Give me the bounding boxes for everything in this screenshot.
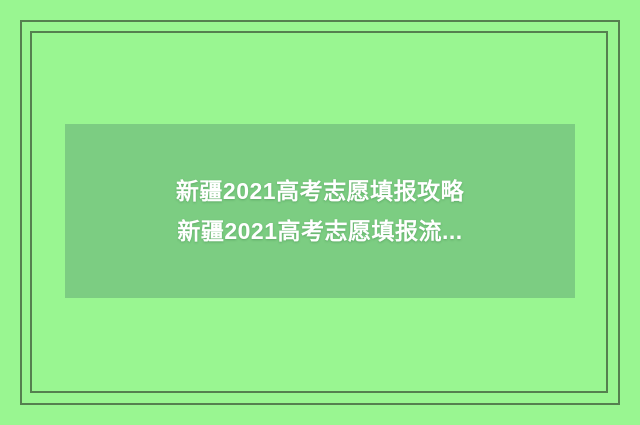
caption-panel: 新疆2021高考志愿填报攻略 新疆2021高考志愿填报流... xyxy=(65,124,575,298)
caption-title-primary: 新疆2021高考志愿填报攻略 xyxy=(176,171,464,211)
caption-title-secondary: 新疆2021高考志愿填报流... xyxy=(177,211,462,251)
thumbnail-canvas: 新疆2021高考志愿填报攻略 新疆2021高考志愿填报流... xyxy=(0,0,640,425)
